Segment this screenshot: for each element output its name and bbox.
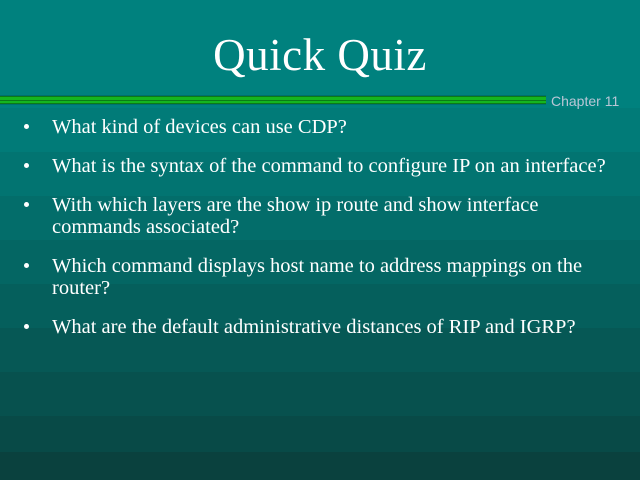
list-item: What are the default administrative dist… <box>0 316 640 338</box>
bullet-dot-icon <box>24 324 29 329</box>
list-item: What kind of devices can use CDP? <box>0 116 640 138</box>
title-divider: Chapter 11 <box>0 93 640 113</box>
page-title: Quick Quiz <box>0 30 640 80</box>
chapter-label: Chapter 11 <box>551 93 619 110</box>
list-item-label: What are the default administrative dist… <box>52 316 610 338</box>
list-item-label: Which command displays host name to addr… <box>52 255 610 299</box>
bullet-dot-icon <box>24 163 29 168</box>
bullet-dot-icon <box>24 202 29 207</box>
list-item-label: What is the syntax of the command to con… <box>52 155 610 177</box>
bullet-dot-icon <box>24 263 29 268</box>
list-item: With which layers are the show ip route … <box>0 194 640 238</box>
list-item: What is the syntax of the command to con… <box>0 155 640 177</box>
slide-canvas: Quick Quiz Chapter 11 What kind of devic… <box>0 0 640 480</box>
list-item: Which command displays host name to addr… <box>0 255 640 299</box>
bullet-dot-icon <box>24 124 29 129</box>
divider-line-icon <box>0 95 546 105</box>
list-item-label: With which layers are the show ip route … <box>52 194 610 238</box>
list-item-label: What kind of devices can use CDP? <box>52 116 610 138</box>
bullet-list: What kind of devices can use CDP? What i… <box>0 116 640 338</box>
